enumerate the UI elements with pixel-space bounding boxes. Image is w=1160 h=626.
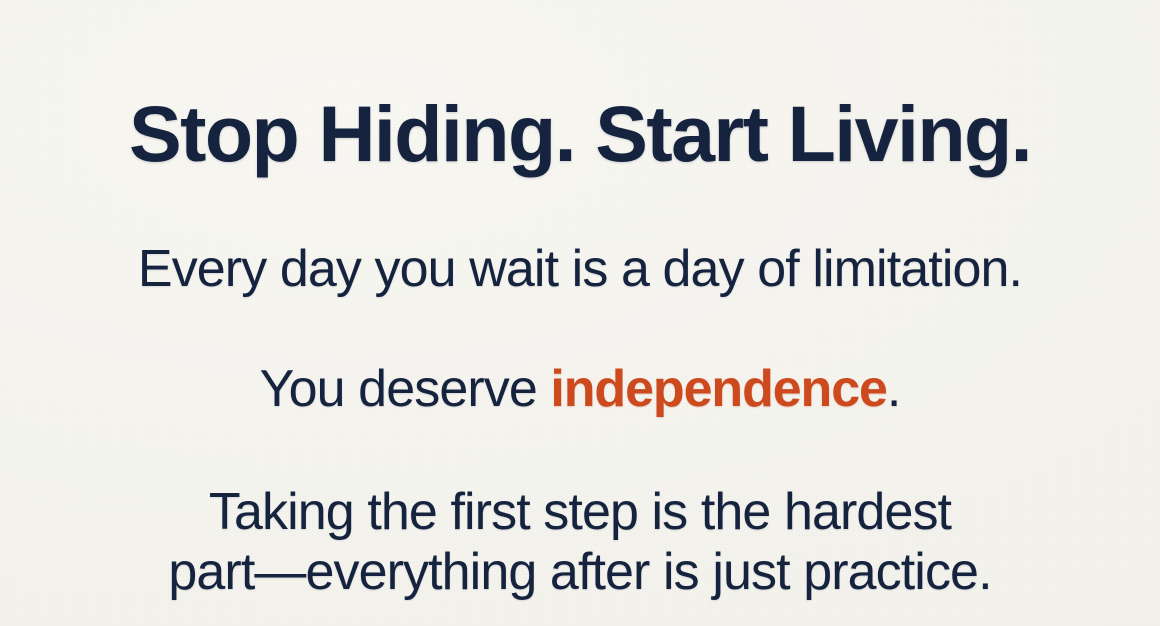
- deserve-text-prefix: You deserve: [260, 360, 551, 418]
- slide-content: Stop Hiding. Start Living. Every day you…: [0, 0, 1160, 626]
- motivational-slide: Stop Hiding. Start Living. Every day you…: [0, 0, 1160, 626]
- independence-period: .: [887, 360, 901, 418]
- slide-headline: Stop Hiding. Start Living.: [0, 94, 1160, 173]
- independence-highlight: independence: [550, 360, 886, 418]
- slide-closing-paragraph: Taking the first step is the hardest par…: [0, 482, 1160, 603]
- slide-subline-independence: You deserve independence.: [0, 362, 1160, 417]
- closing-line-1: Taking the first step is the hardest: [0, 482, 1160, 542]
- closing-line-2: part—everything after is just practice.: [0, 542, 1160, 602]
- slide-subline-limitation: Every day you wait is a day of limitatio…: [0, 242, 1160, 297]
